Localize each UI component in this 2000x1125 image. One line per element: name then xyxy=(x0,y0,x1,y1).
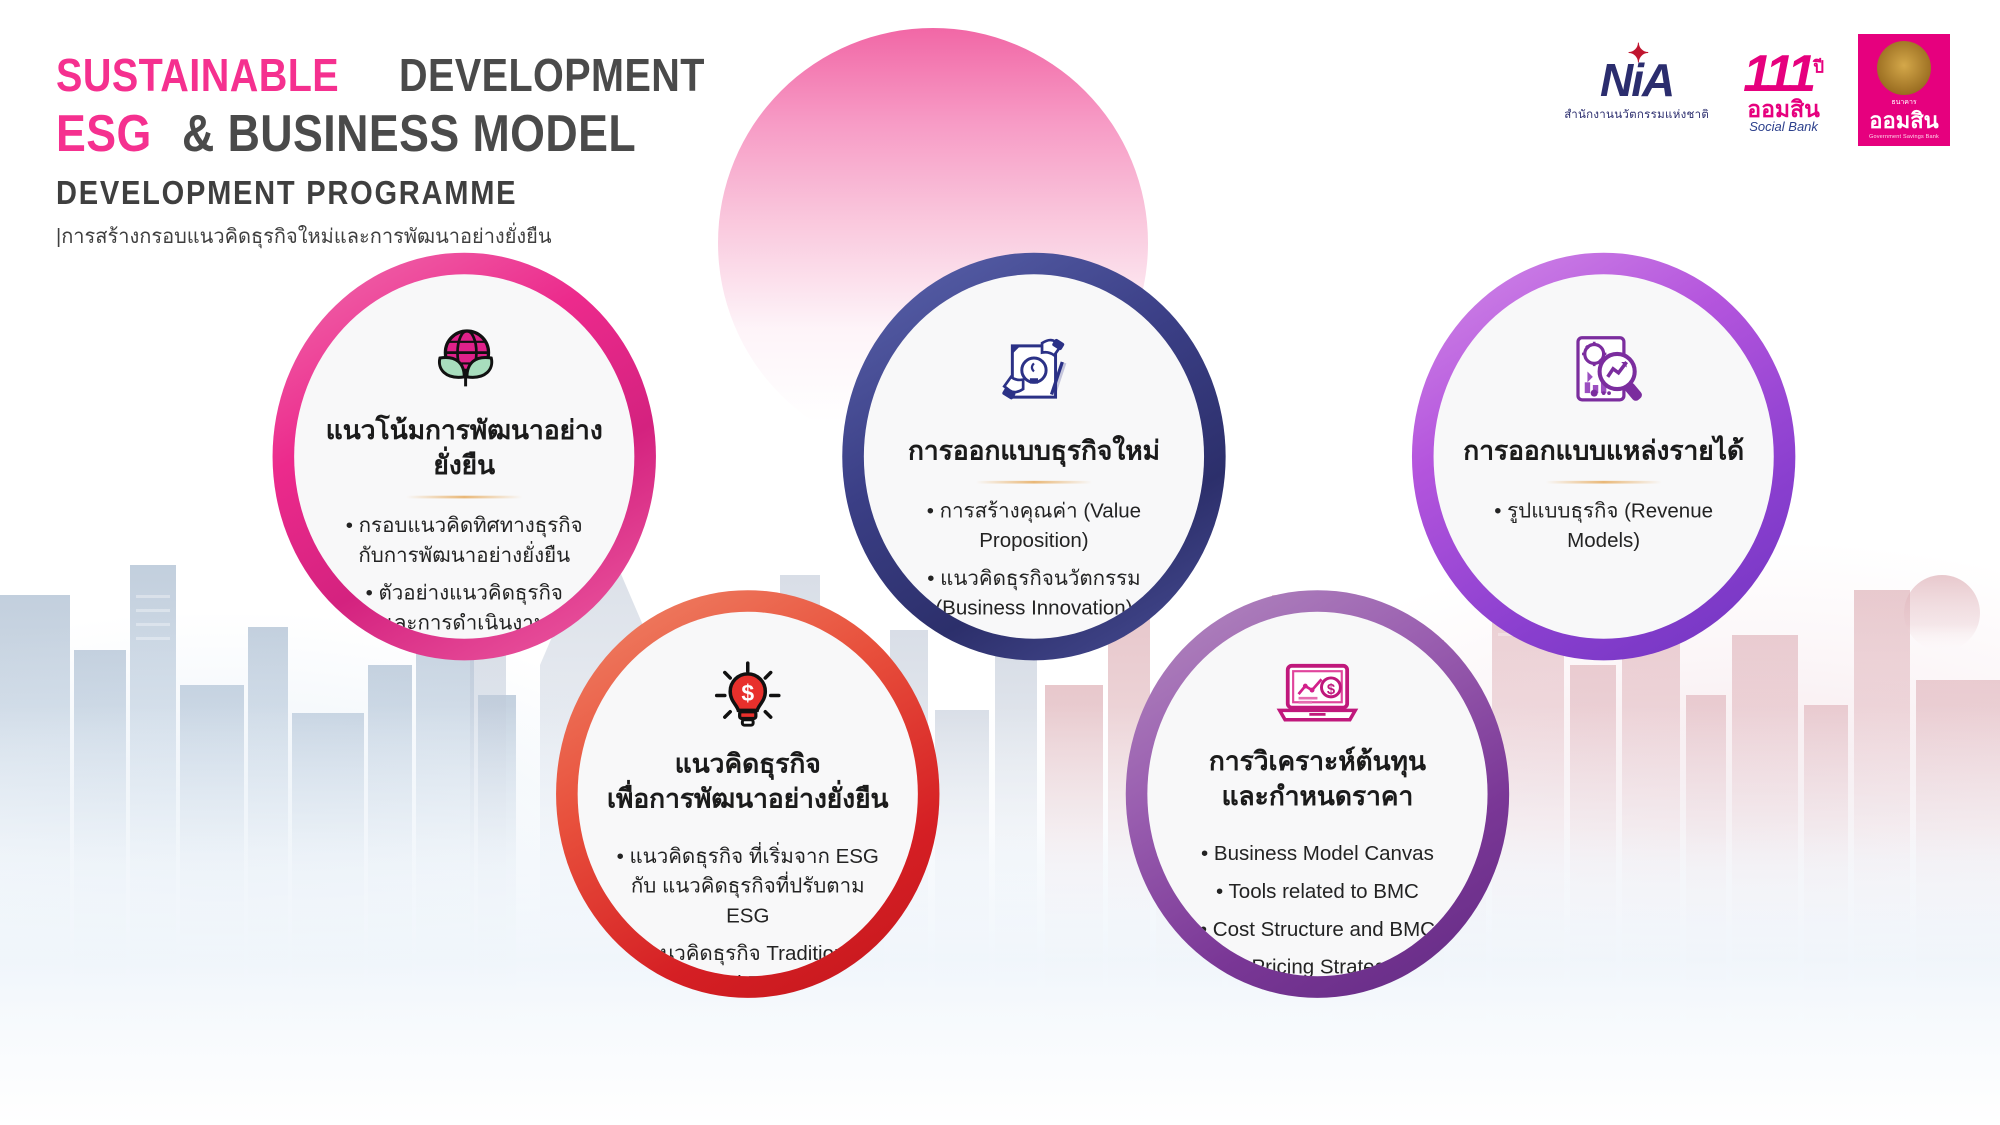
node-bullets: • แนวคิดธุรกิจ ที่เริ่มจาก ESGกับ แนวคิด… xyxy=(578,843,918,976)
report-magnifier-icon xyxy=(1562,320,1646,420)
svg-text:$: $ xyxy=(1327,682,1336,698)
node-bullet: • Tools related to BMC xyxy=(1200,878,1435,908)
page-title: SUSTAINABLE DEVELOPMENT ESG & BUSINESS M… xyxy=(56,52,754,252)
node-content: $ การวิเคราะห์ต้นทุนและกำหนดราคา • Busin… xyxy=(1147,612,1487,977)
gsb-111-number: 111ปี xyxy=(1743,48,1824,100)
gsb-111-unit: ปี xyxy=(1813,57,1824,76)
gsb-111-tagline: Social Bank xyxy=(1743,120,1824,133)
subtitle-thai: |การสร้างกรอบแนวคิดธุรกิจใหม่และการพัฒนา… xyxy=(56,220,754,252)
node-bullet: • Business Model Canvas xyxy=(1200,840,1435,870)
node-content: การออกแบบแหล่งรายได้ • รูปแบบธุรกิจ (Rev… xyxy=(1434,274,1774,638)
gsb-thai-name: ออมสิน xyxy=(1869,110,1938,132)
node-title: การออกแบบธุรกิจใหม่ xyxy=(884,434,1185,469)
gsb-bottom-text: Government Savings Bank xyxy=(1869,134,1939,140)
bulb-dollar-icon: $ xyxy=(709,658,787,734)
node-content: การออกแบบธุรกิจใหม่ • การสร้างคุณค่า (Va… xyxy=(864,274,1204,638)
star-icon: ✦ xyxy=(1627,40,1647,66)
gsb-bank-logo: ธนาคาร ออมสิน Government Savings Bank xyxy=(1858,34,1950,146)
node-sustainable-business-concept[interactable]: $ แนวคิดธุรกิจเพื่อการพัฒนาอย่างยั่งยืน … xyxy=(556,590,939,998)
node-title: แนวคิดธุรกิจเพื่อการพัฒนาอย่างยั่งยืน xyxy=(583,747,913,818)
node-bullet: • การสร้างคุณค่า (Value Proposition) xyxy=(899,497,1169,556)
node-bullets: • รูปแบบธุรกิจ (Revenue Models) xyxy=(1434,497,1774,556)
node-bullet: • Cost Structure and BMC xyxy=(1200,916,1435,946)
node-content: แนวโน้มการพัฒนาอย่างยั่งยืน • กรอบแนวคิด… xyxy=(294,274,634,638)
nia-logo: NiA ✦ สำนักงานนวัตกรรมแห่งชาติ xyxy=(1564,57,1709,124)
node-divider xyxy=(1546,481,1662,484)
title-development: DEVELOPMENT xyxy=(399,52,705,98)
node-cost-analysis-pricing[interactable]: $ การวิเคราะห์ต้นทุนและกำหนดราคา • Busin… xyxy=(1126,590,1509,998)
title-line-3: DEVELOPMENT PROGRAMME xyxy=(56,174,670,212)
title-esg: ESG xyxy=(56,108,152,160)
node-bullet: • รูปแบบธุรกิจ (Revenue Models) xyxy=(1469,497,1739,556)
svg-text:$: $ xyxy=(741,680,754,706)
gsb-111-logo: 111ปี ออมสิน Social Bank xyxy=(1743,48,1824,133)
node-bullet: • แนวคิดธุรกิจ ที่เริ่มจาก ESGกับ แนวคิด… xyxy=(613,843,883,932)
node-divider xyxy=(976,481,1092,484)
title-sustainable: SUSTAINABLE xyxy=(56,52,339,98)
laptop-chart-dollar-icon: $ xyxy=(1272,658,1364,731)
node-content: $ แนวคิดธุรกิจเพื่อการพัฒนาอย่างยั่งยืน … xyxy=(578,612,918,977)
nia-wordmark: NiA ✦ xyxy=(1600,57,1673,103)
gsb-111-thai-name: ออมสิน xyxy=(1743,98,1824,121)
gsb-top-text: ธนาคาร xyxy=(1891,97,1916,108)
globe-leaf-icon xyxy=(424,320,505,400)
gsb-seal-icon xyxy=(1877,41,1931,95)
hands-idea-paper-icon xyxy=(991,320,1077,420)
logo-bar: NiA ✦ สำนักงานนวัตกรรมแห่งชาติ 111ปี ออม… xyxy=(1564,34,1950,146)
node-title: แนวโน้มการพัฒนาอย่างยั่งยืน xyxy=(294,413,634,484)
title-line-1: SUSTAINABLE DEVELOPMENT xyxy=(56,52,754,98)
node-title: การวิเคราะห์ต้นทุนและกำหนดราคา xyxy=(1185,744,1451,815)
title-line-2: ESG & BUSINESS MODEL xyxy=(56,108,754,160)
node-title: การออกแบบแหล่งรายได้ xyxy=(1439,434,1768,469)
title-business-model: & BUSINESS MODEL xyxy=(182,108,636,160)
gsb-111-digits: 111 xyxy=(1743,45,1813,103)
node-bullet: • กรอบแนวคิดทิศทางธุรกิจกับการพัฒนาอย่าง… xyxy=(346,512,583,571)
nia-thai-subtitle: สำนักงานนวัตกรรมแห่งชาติ xyxy=(1564,106,1709,124)
node-divider xyxy=(406,496,522,498)
